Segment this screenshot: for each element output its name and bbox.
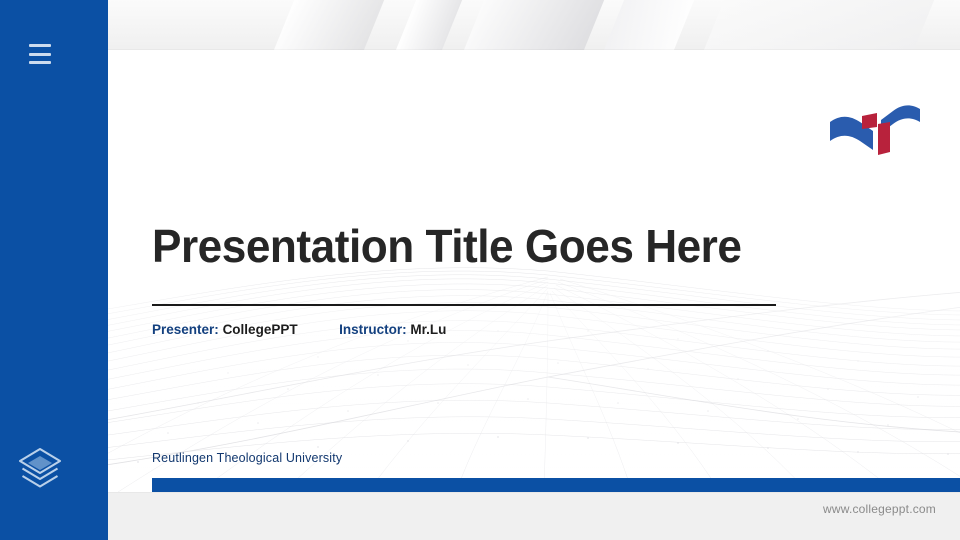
footer: www.collegeppt.com [108, 492, 960, 540]
title-divider [152, 304, 776, 306]
top-decorative-band [108, 0, 960, 52]
presenter-value: CollegePPT [223, 322, 298, 337]
hamburger-bar [29, 53, 51, 56]
app-root: Presentation Title Goes Here Presenter: … [0, 0, 960, 540]
band-ribbon [676, 0, 951, 52]
stacked-layers-logo-icon[interactable] [16, 444, 64, 492]
hamburger-bar [29, 44, 51, 47]
slide-canvas: Presentation Title Goes Here Presenter: … [78, 50, 960, 492]
instructor-label: Instructor: [339, 322, 407, 337]
instructor-value: Mr.Lu [410, 322, 446, 337]
page-title: Presentation Title Goes Here [152, 222, 882, 271]
slide-accent-bar [152, 478, 960, 492]
presenter-label: Presenter: [152, 322, 219, 337]
hamburger-menu-icon[interactable] [29, 44, 51, 64]
university-emblem-icon [827, 100, 923, 162]
sidebar [0, 0, 108, 540]
band-ribbon [246, 0, 401, 52]
hamburger-bar [29, 61, 51, 64]
band-ribbon [436, 0, 621, 52]
university-name: Reutlingen Theological University [152, 451, 342, 465]
band-ribbon [368, 0, 479, 52]
footer-url: www.collegeppt.com [823, 502, 936, 516]
byline: Presenter: CollegePPT Instructor: Mr.Lu [152, 322, 446, 337]
